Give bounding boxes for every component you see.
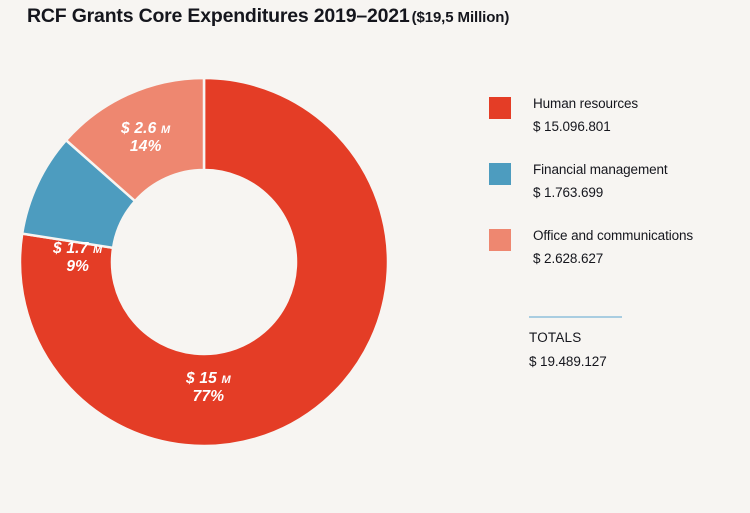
donut-chart-svg — [18, 76, 390, 448]
legend-item-office-and-communications: Office and communications $ 2.628.627 — [489, 227, 745, 273]
financial-management-swatch — [489, 163, 511, 185]
legend-item-financial-management-label: Financial management — [533, 161, 745, 179]
legend-item-human-resources-value: $ 15.096.801 — [533, 118, 745, 136]
legend-item-financial-management-value: $ 1.763.699 — [533, 184, 745, 202]
legend-item-office-and-communications-value: $ 2.628.627 — [533, 250, 745, 268]
totals-value: $ 19.489.127 — [529, 353, 745, 371]
chart-legend: Human resources $ 15.096.801 Financial m… — [489, 95, 745, 293]
page-title: RCF Grants Core Expenditures 2019–2021($… — [27, 7, 509, 27]
legend-item-office-and-communications-label: Office and communications — [533, 227, 745, 245]
donut-slices — [20, 78, 388, 446]
page-title-subtitle: ($19,5 Million) — [412, 9, 510, 26]
legend-item-financial-management: Financial management $ 1.763.699 — [489, 161, 745, 207]
totals-block: TOTALS $ 19.489.127 — [529, 316, 745, 371]
legend-item-human-resources: Human resources $ 15.096.801 — [489, 95, 745, 141]
totals-label: TOTALS — [529, 329, 745, 347]
totals-divider — [529, 316, 622, 318]
legend-item-human-resources-label: Human resources — [533, 95, 745, 113]
human-resources-swatch — [489, 97, 511, 119]
page-title-main: RCF Grants Core Expenditures 2019–2021 — [27, 5, 410, 27]
donut-chart: $ 15 M 77% $ 2.6 M 14% $ 1.7 M 9% — [18, 76, 390, 448]
office-and-communications-swatch — [489, 229, 511, 251]
